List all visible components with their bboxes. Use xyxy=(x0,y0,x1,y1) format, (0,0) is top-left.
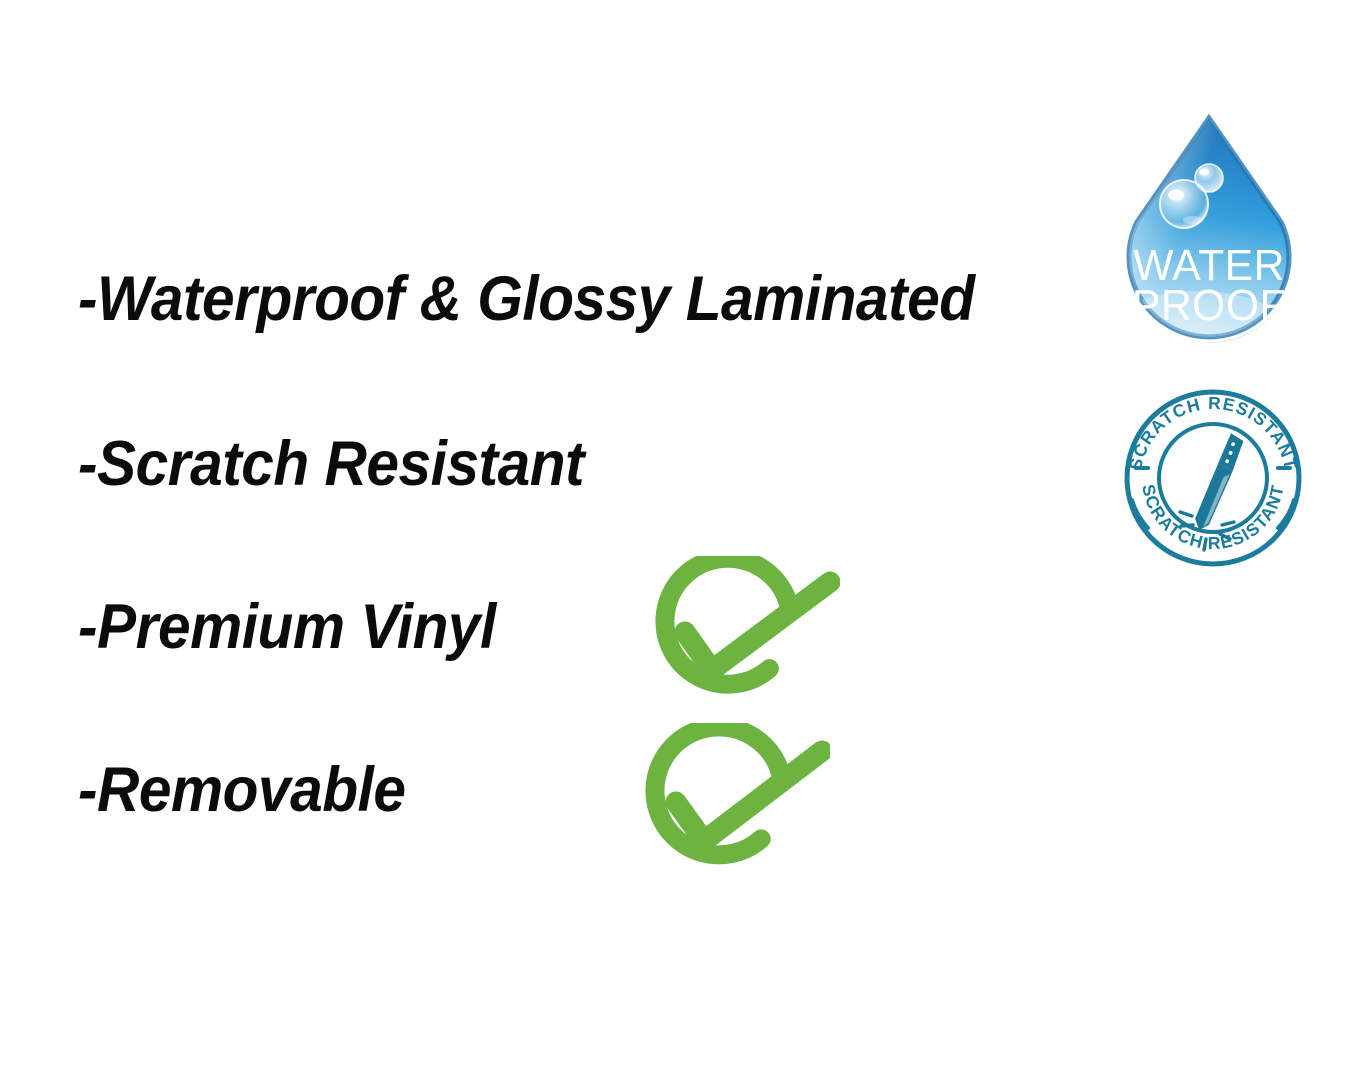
waterproof-droplet-badge: WATER PROOF xyxy=(1098,104,1320,366)
knife-icon xyxy=(1192,430,1244,535)
scratch-resistant-top-arc-text: SCRATCH RESISTANT xyxy=(1125,393,1301,472)
feature-item-waterproof-glossy-laminated: -Waterproof & Glossy Laminated xyxy=(78,263,975,335)
feature-list: -Waterproof & Glossy Laminated -Scratch … xyxy=(0,0,1100,1080)
scratch-resistant-stamp-badge: SCRATCH RESISTANT SCRATCH RESISTANT xyxy=(1118,382,1308,568)
product-feature-graphic: -Waterproof & Glossy Laminated -Scratch … xyxy=(0,0,1359,1080)
green-check-icon-removable xyxy=(630,723,830,885)
feature-item-premium-vinyl: -Premium Vinyl xyxy=(78,591,496,663)
feature-item-removable: -Removable xyxy=(78,754,405,826)
green-check-icon-premium-vinyl xyxy=(640,556,840,714)
feature-item-scratch-resistant: -Scratch Resistant xyxy=(78,428,584,500)
water-bubble-large xyxy=(1160,180,1208,228)
